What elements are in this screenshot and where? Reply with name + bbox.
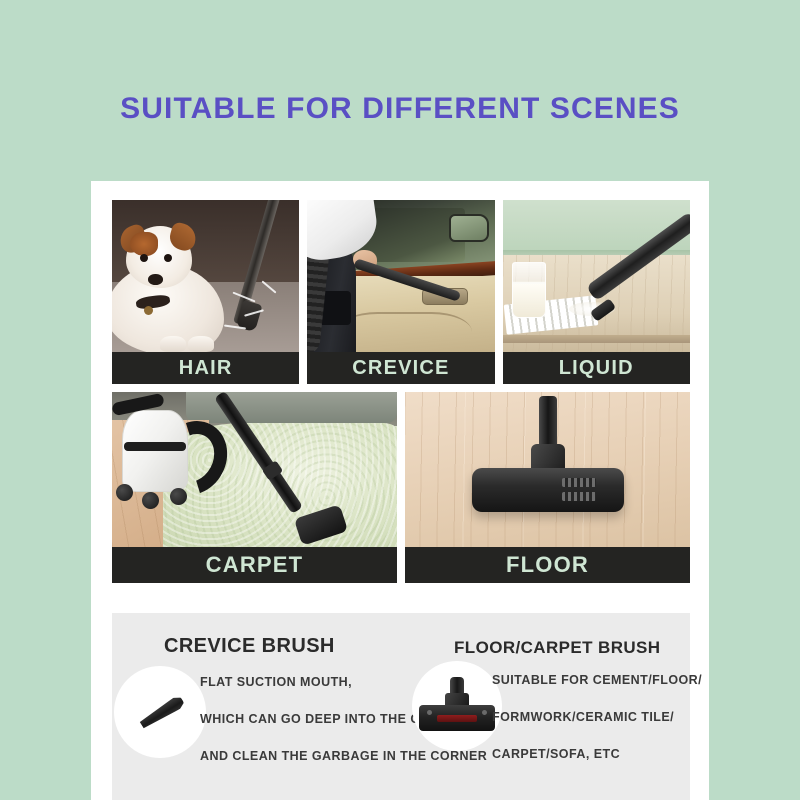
floor-brush-on-wood-photo (405, 392, 690, 547)
scene-tile-carpet[interactable]: CARPET (112, 392, 397, 583)
scene-label-liquid: LIQUID (559, 357, 634, 380)
car-door-interior-photo (307, 200, 494, 352)
dog-on-sofa-photo (112, 200, 299, 352)
crevice-brush-section: CREVICE BRUSH FLAT SUCTION MOUTH, WHICH … (112, 613, 412, 800)
scene-label-hair: HAIR (179, 357, 233, 380)
scene-tile-crevice[interactable]: CREVICE (307, 200, 494, 384)
scene-row-1: HAIR (112, 200, 690, 384)
accessory-info-panel: CREVICE BRUSH FLAT SUCTION MOUTH, WHICH … (112, 613, 690, 800)
content-card: HAIR (91, 181, 709, 800)
scene-grid: HAIR (112, 200, 690, 591)
page-title: SUITABLE FOR DIFFERENT SCENES (0, 92, 800, 126)
floor-carpet-line-1: SUITABLE FOR CEMENT/FLOOR/ (492, 673, 702, 687)
crevice-brush-heading: CREVICE BRUSH (164, 635, 335, 658)
floor-carpet-brush-section: FLOOR/CARPET BRUSH SUITABLE FOR CEMENT/ (412, 613, 690, 800)
floor-carpet-line-3: CARPET/SOFA, ETC (492, 747, 702, 761)
scene-tile-floor[interactable]: FLOOR (405, 392, 690, 583)
scene-label-bar: LIQUID (503, 352, 690, 384)
scene-row-2: CARPET FLOOR (112, 392, 690, 583)
floor-carpet-brush-description: SUITABLE FOR CEMENT/FLOOR/ FORMWORK/CERA… (492, 673, 702, 761)
milk-glass-on-table-photo (503, 200, 690, 352)
scene-label-floor: FLOOR (506, 552, 589, 578)
crevice-brush-icon (114, 666, 206, 758)
canister-vacuum-on-rug-photo (112, 392, 397, 547)
floor-carpet-line-2: FORMWORK/CERAMIC TILE/ (492, 710, 702, 724)
floor-carpet-brush-heading: FLOOR/CARPET BRUSH (454, 638, 660, 658)
scene-label-bar: FLOOR (405, 547, 690, 583)
scene-label-bar: CREVICE (307, 352, 494, 384)
floor-carpet-brush-icon (412, 661, 502, 751)
scene-tile-hair[interactable]: HAIR (112, 200, 299, 384)
scene-label-bar: HAIR (112, 352, 299, 384)
scene-label-carpet: CARPET (206, 552, 304, 578)
scene-label-bar: CARPET (112, 547, 397, 583)
scene-tile-liquid[interactable]: LIQUID (503, 200, 690, 384)
page-root: SUITABLE FOR DIFFERENT SCENES (0, 0, 800, 800)
scene-label-crevice: CREVICE (352, 357, 449, 380)
